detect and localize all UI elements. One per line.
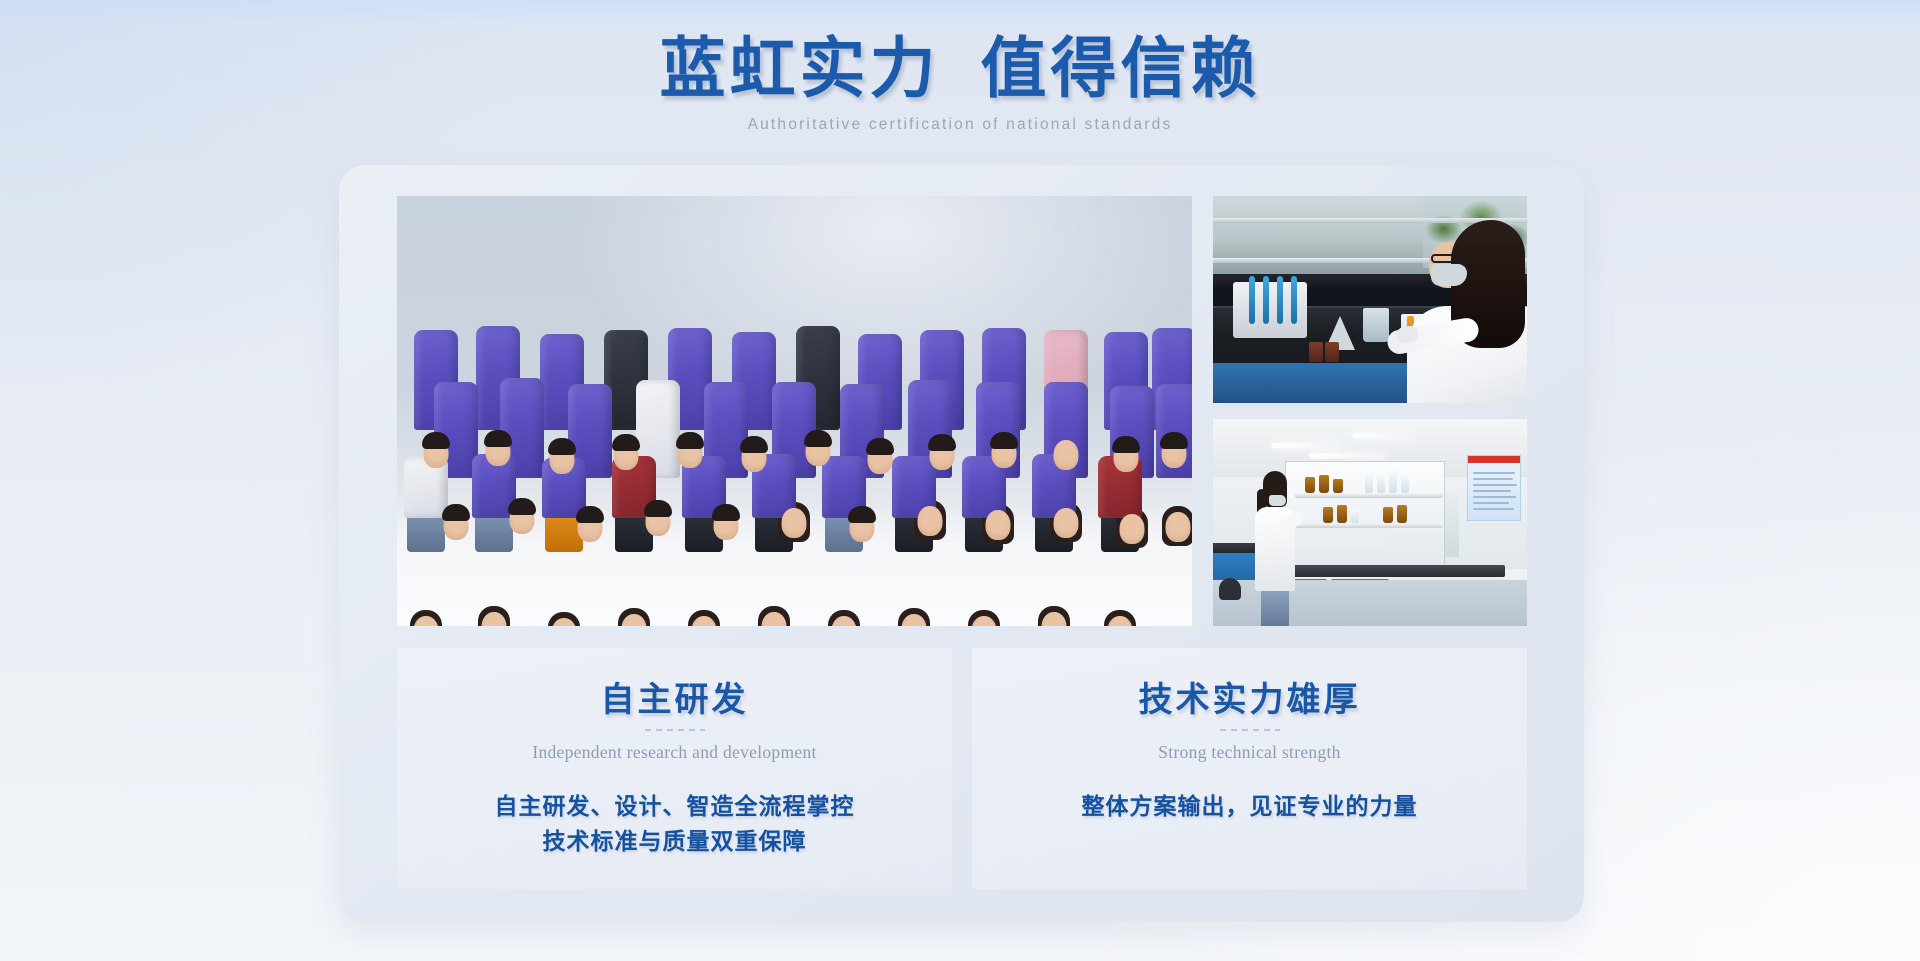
clear-bottle — [1351, 509, 1359, 523]
card-description: 整体方案输出，见证专业的力量 — [972, 790, 1527, 825]
face-mask-icon — [1431, 264, 1467, 286]
amber-bottle — [1383, 507, 1393, 523]
pipette-icon — [1263, 276, 1269, 324]
eyeglasses-icon — [1431, 254, 1465, 263]
page-title: 蓝虹实力 值得信赖 — [0, 32, 1920, 108]
lab-researcher-figure — [1253, 471, 1295, 626]
safety-poster — [1467, 455, 1521, 521]
media-grid — [397, 196, 1527, 626]
clear-bottle — [1365, 473, 1373, 493]
amber-bottle — [1325, 342, 1339, 362]
pipette-icon — [1277, 276, 1283, 324]
beaker — [1363, 308, 1389, 342]
clear-bottle — [1377, 475, 1385, 493]
card-title: 技术实力雄厚 — [972, 682, 1527, 719]
researcher-jeans — [1261, 589, 1289, 626]
ceiling-light — [1353, 433, 1413, 438]
pipette-icon — [1291, 276, 1297, 324]
ceiling-light — [1309, 453, 1387, 458]
lab-technician-illustration — [1213, 196, 1527, 403]
bench-cabinet — [1213, 363, 1414, 403]
card-subtitle-en: Independent research and development — [397, 742, 952, 763]
reagent-shelf — [1295, 523, 1443, 528]
group-photo — [397, 196, 1192, 626]
card-description: 自主研发、设计、智造全流程掌控 技术标准与质量双重保障 — [397, 790, 952, 860]
lab-room-illustration — [1213, 419, 1527, 626]
amber-bottle — [1305, 477, 1315, 493]
lab-stool — [1219, 578, 1241, 600]
ceiling-light — [1271, 443, 1341, 448]
lab-photo-room — [1213, 419, 1527, 626]
section-header: 蓝虹实力 值得信赖 Authoritative certification of… — [0, 0, 1920, 134]
card-divider — [645, 729, 705, 731]
clear-bottle — [1401, 475, 1409, 493]
group-photo-illustration — [397, 196, 1192, 626]
page-subtitle: Authoritative certification of national … — [0, 116, 1920, 134]
feature-card-independent-rnd[interactable]: 自主研发 Independent research and developmen… — [397, 648, 952, 889]
lab-technician-figure — [1405, 220, 1527, 403]
pipette-icon — [1249, 276, 1255, 324]
amber-bottle — [1323, 507, 1333, 523]
card-divider — [1220, 729, 1280, 731]
amber-bottle — [1337, 505, 1347, 523]
card-subtitle-en: Strong technical strength — [972, 742, 1527, 763]
clear-bottle — [1389, 471, 1397, 493]
feature-cards: 自主研发 Independent research and developmen… — [397, 648, 1527, 889]
island-bench-top — [1265, 565, 1505, 577]
lab-photo-technician — [1213, 196, 1527, 403]
card-title: 自主研发 — [397, 682, 952, 719]
face-mask-icon — [1269, 495, 1286, 506]
amber-bottle — [1397, 505, 1407, 523]
reagent-shelf — [1295, 493, 1443, 498]
feature-card-technical-strength[interactable]: 技术实力雄厚 Strong technical strength 整体方案输出，… — [972, 648, 1527, 889]
amber-bottle — [1319, 475, 1329, 493]
content-panel: 自主研发 Independent research and developmen… — [339, 165, 1584, 922]
amber-bottle — [1333, 479, 1343, 493]
amber-bottle — [1309, 342, 1323, 362]
